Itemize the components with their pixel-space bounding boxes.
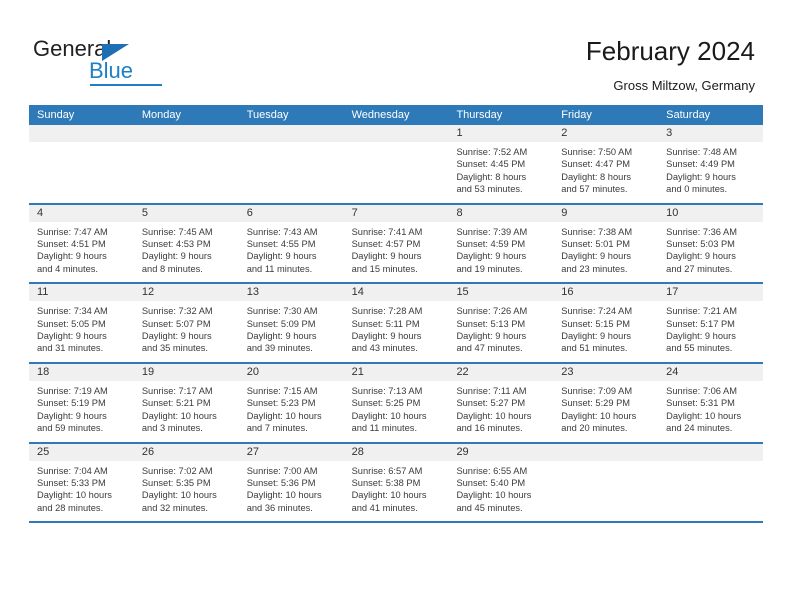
day-details: Sunrise: 7:06 AM Sunset: 5:31 PM Dayligh… [658,381,763,442]
day-cell[interactable]: 2 Sunrise: 7:50 AM Sunset: 4:47 PM Dayli… [553,125,658,203]
sunset-text: Sunset: 4:57 PM [352,238,443,250]
day-details [239,142,344,195]
sunrise-text: Sunrise: 7:17 AM [142,385,233,397]
sunrise-text: Sunrise: 7:04 AM [37,465,128,477]
day-number [29,125,134,142]
daylight-text-line1: Daylight: 10 hours [247,410,338,422]
day-details [553,461,658,514]
sunrise-text: Sunrise: 7:38 AM [561,226,652,238]
day-cell[interactable]: 11 Sunrise: 7:34 AM Sunset: 5:05 PM Dayl… [29,284,134,362]
day-details: Sunrise: 6:55 AM Sunset: 5:40 PM Dayligh… [448,461,553,522]
day-number [658,444,763,461]
daylight-text-line1: Daylight: 9 hours [142,330,233,342]
sunset-text: Sunset: 5:25 PM [352,397,443,409]
sunset-text: Sunset: 5:11 PM [352,318,443,330]
sunset-text: Sunset: 4:53 PM [142,238,233,250]
daylight-text-line1: Daylight: 10 hours [561,410,652,422]
day-number: 9 [553,205,658,222]
day-details: Sunrise: 7:52 AM Sunset: 4:45 PM Dayligh… [448,142,553,203]
daylight-text-line2: and 15 minutes. [352,263,443,275]
day-cell[interactable]: 12 Sunrise: 7:32 AM Sunset: 5:07 PM Dayl… [134,284,239,362]
weekday-header-saturday: Saturday [658,105,763,125]
day-cell[interactable]: 14 Sunrise: 7:28 AM Sunset: 5:11 PM Dayl… [344,284,449,362]
day-cell[interactable]: 13 Sunrise: 7:30 AM Sunset: 5:09 PM Dayl… [239,284,344,362]
day-number: 7 [344,205,449,222]
daylight-text-line1: Daylight: 10 hours [142,410,233,422]
day-details: Sunrise: 7:19 AM Sunset: 5:19 PM Dayligh… [29,381,134,442]
daylight-text-line2: and 20 minutes. [561,422,652,434]
sunset-text: Sunset: 5:38 PM [352,477,443,489]
daylight-text-line2: and 3 minutes. [142,422,233,434]
weekday-header-wednesday: Wednesday [344,105,449,125]
day-cell[interactable]: 16 Sunrise: 7:24 AM Sunset: 5:15 PM Dayl… [553,284,658,362]
weekday-header-thursday: Thursday [448,105,553,125]
daylight-text-line1: Daylight: 9 hours [561,250,652,262]
day-cell[interactable]: 3 Sunrise: 7:48 AM Sunset: 4:49 PM Dayli… [658,125,763,203]
day-details: Sunrise: 7:26 AM Sunset: 5:13 PM Dayligh… [448,301,553,362]
weekday-header-friday: Friday [553,105,658,125]
daylight-text-line2: and 36 minutes. [247,502,338,514]
daylight-text-line2: and 53 minutes. [456,183,547,195]
day-details: Sunrise: 7:11 AM Sunset: 5:27 PM Dayligh… [448,381,553,442]
day-details: Sunrise: 7:30 AM Sunset: 5:09 PM Dayligh… [239,301,344,362]
general-blue-logo: General Blue [33,36,233,88]
sunset-text: Sunset: 5:29 PM [561,397,652,409]
sunrise-text: Sunrise: 7:47 AM [37,226,128,238]
daylight-text-line2: and 31 minutes. [37,342,128,354]
daylight-text-line1: Daylight: 9 hours [37,410,128,422]
day-details: Sunrise: 7:38 AM Sunset: 5:01 PM Dayligh… [553,222,658,283]
day-details: Sunrise: 7:04 AM Sunset: 5:33 PM Dayligh… [29,461,134,522]
daylight-text-line1: Daylight: 10 hours [352,410,443,422]
sunrise-text: Sunrise: 7:00 AM [247,465,338,477]
day-cell[interactable]: 6 Sunrise: 7:43 AM Sunset: 4:55 PM Dayli… [239,205,344,283]
day-number: 16 [553,284,658,301]
daylight-text-line2: and 41 minutes. [352,502,443,514]
daylight-text-line2: and 47 minutes. [456,342,547,354]
day-cell[interactable]: 23 Sunrise: 7:09 AM Sunset: 5:29 PM Dayl… [553,364,658,442]
daylight-text-line2: and 59 minutes. [37,422,128,434]
day-details: Sunrise: 7:39 AM Sunset: 4:59 PM Dayligh… [448,222,553,283]
daylight-text-line2: and 28 minutes. [37,502,128,514]
sunset-text: Sunset: 4:55 PM [247,238,338,250]
daylight-text-line2: and 39 minutes. [247,342,338,354]
calendar-page: General Blue February 2024 Gross Miltzow… [0,0,792,612]
daylight-text-line1: Daylight: 9 hours [666,250,757,262]
daylight-text-line1: Daylight: 9 hours [352,250,443,262]
sunrise-text: Sunrise: 7:21 AM [666,305,757,317]
day-number: 23 [553,364,658,381]
day-details: Sunrise: 7:02 AM Sunset: 5:35 PM Dayligh… [134,461,239,522]
day-details [29,142,134,195]
day-number: 5 [134,205,239,222]
day-details: Sunrise: 7:48 AM Sunset: 4:49 PM Dayligh… [658,142,763,203]
sunset-text: Sunset: 5:31 PM [666,397,757,409]
day-details: Sunrise: 7:21 AM Sunset: 5:17 PM Dayligh… [658,301,763,362]
sunset-text: Sunset: 5:35 PM [142,477,233,489]
logo-underline-divider [90,84,162,86]
day-cell[interactable]: 17 Sunrise: 7:21 AM Sunset: 5:17 PM Dayl… [658,284,763,362]
sunset-text: Sunset: 5:01 PM [561,238,652,250]
day-number: 10 [658,205,763,222]
day-number: 17 [658,284,763,301]
day-cell[interactable] [29,125,134,203]
day-cell[interactable]: 27 Sunrise: 7:00 AM Sunset: 5:36 PM Dayl… [239,444,344,522]
sunset-text: Sunset: 5:19 PM [37,397,128,409]
sunset-text: Sunset: 5:15 PM [561,318,652,330]
daylight-text-line2: and 51 minutes. [561,342,652,354]
daylight-text-line1: Daylight: 10 hours [456,489,547,501]
day-number [344,125,449,142]
day-details: Sunrise: 7:28 AM Sunset: 5:11 PM Dayligh… [344,301,449,362]
day-cell[interactable]: 29 Sunrise: 6:55 AM Sunset: 5:40 PM Dayl… [448,444,553,522]
daylight-text-line2: and 32 minutes. [142,502,233,514]
day-number: 1 [448,125,553,142]
daylight-text-line2: and 27 minutes. [666,263,757,275]
sunset-text: Sunset: 5:17 PM [666,318,757,330]
sunset-text: Sunset: 4:49 PM [666,158,757,170]
sunset-text: Sunset: 5:03 PM [666,238,757,250]
day-details: Sunrise: 7:13 AM Sunset: 5:25 PM Dayligh… [344,381,449,442]
daylight-text-line1: Daylight: 8 hours [561,171,652,183]
day-number: 6 [239,205,344,222]
day-cell[interactable]: 8 Sunrise: 7:39 AM Sunset: 4:59 PM Dayli… [448,205,553,283]
sunrise-text: Sunrise: 7:43 AM [247,226,338,238]
sunrise-text: Sunrise: 7:39 AM [456,226,547,238]
day-cell[interactable]: 10 Sunrise: 7:36 AM Sunset: 5:03 PM Dayl… [658,205,763,283]
sunrise-text: Sunrise: 6:57 AM [352,465,443,477]
day-number: 28 [344,444,449,461]
sunset-text: Sunset: 5:40 PM [456,477,547,489]
daylight-text-line1: Daylight: 9 hours [37,250,128,262]
day-cell[interactable]: 28 Sunrise: 6:57 AM Sunset: 5:38 PM Dayl… [344,444,449,522]
day-number: 18 [29,364,134,381]
daylight-text-line2: and 55 minutes. [666,342,757,354]
sunset-text: Sunset: 5:36 PM [247,477,338,489]
daylight-text-line1: Daylight: 10 hours [247,489,338,501]
sunset-text: Sunset: 4:45 PM [456,158,547,170]
daylight-text-line1: Daylight: 9 hours [666,330,757,342]
day-number: 20 [239,364,344,381]
day-cell[interactable]: 1 Sunrise: 7:52 AM Sunset: 4:45 PM Dayli… [448,125,553,203]
day-number: 2 [553,125,658,142]
sunset-text: Sunset: 5:33 PM [37,477,128,489]
day-cell[interactable]: 21 Sunrise: 7:13 AM Sunset: 5:25 PM Dayl… [344,364,449,442]
daylight-text-line2: and 57 minutes. [561,183,652,195]
sunrise-text: Sunrise: 7:45 AM [142,226,233,238]
sunrise-text: Sunrise: 7:15 AM [247,385,338,397]
day-cell[interactable]: 22 Sunrise: 7:11 AM Sunset: 5:27 PM Dayl… [448,364,553,442]
sunrise-text: Sunrise: 7:34 AM [37,305,128,317]
day-number: 8 [448,205,553,222]
day-details: Sunrise: 7:41 AM Sunset: 4:57 PM Dayligh… [344,222,449,283]
daylight-text-line2: and 0 minutes. [666,183,757,195]
sunrise-text: Sunrise: 7:41 AM [352,226,443,238]
weekday-header-monday: Monday [134,105,239,125]
sunrise-text: Sunrise: 7:09 AM [561,385,652,397]
day-number: 21 [344,364,449,381]
day-cell[interactable]: 20 Sunrise: 7:15 AM Sunset: 5:23 PM Dayl… [239,364,344,442]
sunset-text: Sunset: 5:05 PM [37,318,128,330]
day-number: 29 [448,444,553,461]
daylight-text-line1: Daylight: 9 hours [456,330,547,342]
daylight-text-line1: Daylight: 9 hours [37,330,128,342]
day-details: Sunrise: 7:09 AM Sunset: 5:29 PM Dayligh… [553,381,658,442]
calendar-grid: Sunday Monday Tuesday Wednesday Thursday… [29,105,763,523]
day-number: 14 [344,284,449,301]
sunrise-text: Sunrise: 7:28 AM [352,305,443,317]
daylight-text-line1: Daylight: 9 hours [247,330,338,342]
weekday-header-tuesday: Tuesday [239,105,344,125]
day-details [344,142,449,195]
day-cell[interactable] [553,444,658,522]
day-number: 19 [134,364,239,381]
sunset-text: Sunset: 5:27 PM [456,397,547,409]
sunrise-text: Sunrise: 7:24 AM [561,305,652,317]
sunset-text: Sunset: 4:47 PM [561,158,652,170]
calendar-week-row: 4 Sunrise: 7:47 AM Sunset: 4:51 PM Dayli… [29,205,763,285]
sunrise-text: Sunrise: 7:06 AM [666,385,757,397]
day-cell[interactable]: 24 Sunrise: 7:06 AM Sunset: 5:31 PM Dayl… [658,364,763,442]
day-number: 3 [658,125,763,142]
sunset-text: Sunset: 4:59 PM [456,238,547,250]
daylight-text-line2: and 35 minutes. [142,342,233,354]
day-details [134,142,239,195]
day-number [553,444,658,461]
day-cell[interactable]: 9 Sunrise: 7:38 AM Sunset: 5:01 PM Dayli… [553,205,658,283]
page-header: General Blue February 2024 Gross Miltzow… [0,0,792,104]
daylight-text-line2: and 4 minutes. [37,263,128,275]
daylight-text-line1: Daylight: 9 hours [352,330,443,342]
day-number: 4 [29,205,134,222]
daylight-text-line1: Daylight: 9 hours [666,171,757,183]
day-details: Sunrise: 7:32 AM Sunset: 5:07 PM Dayligh… [134,301,239,362]
daylight-text-line1: Daylight: 10 hours [666,410,757,422]
daylight-text-line2: and 11 minutes. [247,263,338,275]
day-details: Sunrise: 7:17 AM Sunset: 5:21 PM Dayligh… [134,381,239,442]
calendar-week-row: 18 Sunrise: 7:19 AM Sunset: 5:19 PM Dayl… [29,364,763,444]
day-details: Sunrise: 7:00 AM Sunset: 5:36 PM Dayligh… [239,461,344,522]
day-cell[interactable]: 25 Sunrise: 7:04 AM Sunset: 5:33 PM Dayl… [29,444,134,522]
sunrise-text: Sunrise: 7:19 AM [37,385,128,397]
sunrise-text: Sunrise: 7:36 AM [666,226,757,238]
day-cell[interactable]: 26 Sunrise: 7:02 AM Sunset: 5:35 PM Dayl… [134,444,239,522]
sunrise-text: Sunrise: 7:11 AM [456,385,547,397]
sunset-text: Sunset: 5:21 PM [142,397,233,409]
day-details: Sunrise: 7:43 AM Sunset: 4:55 PM Dayligh… [239,222,344,283]
day-details [658,461,763,514]
sunrise-text: Sunrise: 7:48 AM [666,146,757,158]
day-cell[interactable]: 18 Sunrise: 7:19 AM Sunset: 5:19 PM Dayl… [29,364,134,442]
day-details: Sunrise: 7:36 AM Sunset: 5:03 PM Dayligh… [658,222,763,283]
sunset-text: Sunset: 4:51 PM [37,238,128,250]
day-number: 27 [239,444,344,461]
sunset-text: Sunset: 5:07 PM [142,318,233,330]
day-cell[interactable]: 7 Sunrise: 7:41 AM Sunset: 4:57 PM Dayli… [344,205,449,283]
day-number: 24 [658,364,763,381]
daylight-text-line1: Daylight: 10 hours [37,489,128,501]
calendar-week-row: 11 Sunrise: 7:34 AM Sunset: 5:05 PM Dayl… [29,284,763,364]
day-cell[interactable]: 15 Sunrise: 7:26 AM Sunset: 5:13 PM Dayl… [448,284,553,362]
day-cell[interactable]: 4 Sunrise: 7:47 AM Sunset: 4:51 PM Dayli… [29,205,134,283]
daylight-text-line2: and 45 minutes. [456,502,547,514]
day-details: Sunrise: 7:15 AM Sunset: 5:23 PM Dayligh… [239,381,344,442]
day-number: 15 [448,284,553,301]
day-number: 26 [134,444,239,461]
sunrise-text: Sunrise: 7:30 AM [247,305,338,317]
sunrise-text: Sunrise: 7:26 AM [456,305,547,317]
day-cell[interactable]: 5 Sunrise: 7:45 AM Sunset: 4:53 PM Dayli… [134,205,239,283]
sunrise-text: Sunrise: 7:13 AM [352,385,443,397]
day-number [239,125,344,142]
daylight-text-line1: Daylight: 9 hours [561,330,652,342]
day-number: 22 [448,364,553,381]
daylight-text-line1: Daylight: 10 hours [456,410,547,422]
daylight-text-line2: and 43 minutes. [352,342,443,354]
day-cell[interactable] [658,444,763,522]
weekday-header-row: Sunday Monday Tuesday Wednesday Thursday… [29,105,763,125]
daylight-text-line1: Daylight: 10 hours [142,489,233,501]
calendar-week-row: 25 Sunrise: 7:04 AM Sunset: 5:33 PM Dayl… [29,444,763,524]
day-details: Sunrise: 7:47 AM Sunset: 4:51 PM Dayligh… [29,222,134,283]
day-number: 11 [29,284,134,301]
sunrise-text: Sunrise: 7:02 AM [142,465,233,477]
weekday-header-sunday: Sunday [29,105,134,125]
page-title: February 2024 [586,36,755,67]
day-details: Sunrise: 7:50 AM Sunset: 4:47 PM Dayligh… [553,142,658,203]
daylight-text-line2: and 11 minutes. [352,422,443,434]
day-number [134,125,239,142]
page-subtitle: Gross Miltzow, Germany [613,78,755,93]
daylight-text-line1: Daylight: 10 hours [352,489,443,501]
logo-text-blue: Blue [89,58,133,84]
sunset-text: Sunset: 5:09 PM [247,318,338,330]
sunrise-text: Sunrise: 7:52 AM [456,146,547,158]
day-cell[interactable]: 19 Sunrise: 7:17 AM Sunset: 5:21 PM Dayl… [134,364,239,442]
sunrise-text: Sunrise: 6:55 AM [456,465,547,477]
day-cell[interactable] [344,125,449,203]
day-details: Sunrise: 7:24 AM Sunset: 5:15 PM Dayligh… [553,301,658,362]
daylight-text-line2: and 19 minutes. [456,263,547,275]
day-number: 13 [239,284,344,301]
sunset-text: Sunset: 5:23 PM [247,397,338,409]
daylight-text-line2: and 7 minutes. [247,422,338,434]
day-details: Sunrise: 7:45 AM Sunset: 4:53 PM Dayligh… [134,222,239,283]
day-details: Sunrise: 7:34 AM Sunset: 5:05 PM Dayligh… [29,301,134,362]
sunset-text: Sunset: 5:13 PM [456,318,547,330]
daylight-text-line1: Daylight: 8 hours [456,171,547,183]
daylight-text-line1: Daylight: 9 hours [142,250,233,262]
daylight-text-line2: and 24 minutes. [666,422,757,434]
day-cell[interactable] [239,125,344,203]
day-details: Sunrise: 6:57 AM Sunset: 5:38 PM Dayligh… [344,461,449,522]
daylight-text-line1: Daylight: 9 hours [456,250,547,262]
daylight-text-line2: and 8 minutes. [142,263,233,275]
daylight-text-line2: and 23 minutes. [561,263,652,275]
sunrise-text: Sunrise: 7:32 AM [142,305,233,317]
daylight-text-line2: and 16 minutes. [456,422,547,434]
day-cell[interactable] [134,125,239,203]
daylight-text-line1: Daylight: 9 hours [247,250,338,262]
day-number: 12 [134,284,239,301]
calendar-week-row: 1 Sunrise: 7:52 AM Sunset: 4:45 PM Dayli… [29,125,763,205]
day-number: 25 [29,444,134,461]
sunrise-text: Sunrise: 7:50 AM [561,146,652,158]
